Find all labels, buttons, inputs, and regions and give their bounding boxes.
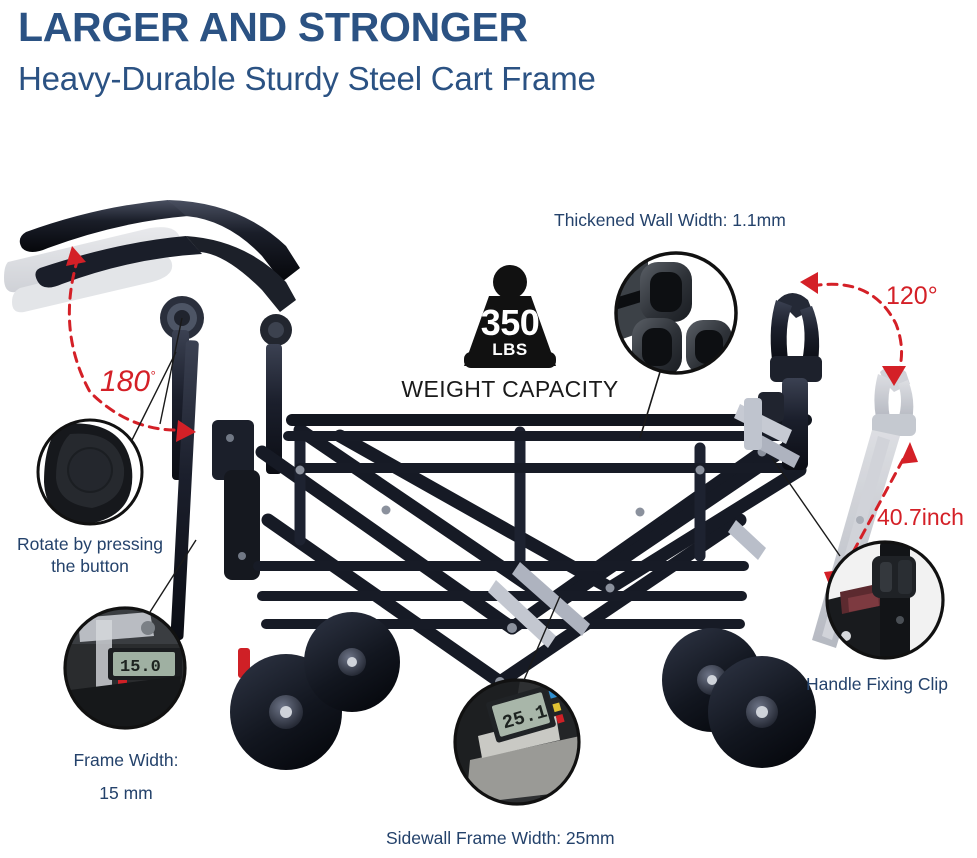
infographic-canvas: LARGER AND STRONGER Heavy-Durable Sturdy… (0, 0, 977, 858)
cart-handle-left (20, 200, 300, 346)
rotation-arc-180 (69, 258, 182, 430)
cart-illustration: 15.0 25.1 (0, 0, 977, 858)
frame-rivets (296, 448, 767, 688)
label-handle-angle-120: 120° (886, 282, 938, 311)
label-handle-fixing-clip: Handle Fixing Clip (806, 673, 948, 695)
tube-cross-section-detail (608, 253, 736, 438)
label-rotate-by-pressing-the-button: Rotate by pressing the button (0, 533, 180, 578)
rotate-caption-line-2: the button (51, 556, 129, 576)
cart-handle-right (734, 293, 822, 470)
arrow-head-40in-bottom (824, 570, 842, 592)
arrow-head-40in-top (900, 442, 918, 464)
arrow-head-120-left (800, 272, 818, 294)
label-rotation-angle-180: 180° (100, 365, 155, 399)
leader-line-180 (160, 318, 182, 424)
frame-width-line-2: 15 mm (99, 783, 152, 803)
wheel-rear-left (662, 628, 762, 732)
weight-capacity-value: 350 (455, 302, 565, 344)
cart-inner-bracing (488, 520, 766, 648)
arrow-head-180-bottom (176, 420, 196, 442)
page-title: LARGER AND STRONGER (18, 4, 528, 51)
rotation-angle-value: 180 (100, 365, 150, 398)
cart-left-posts (170, 330, 282, 678)
handle-ghost-left (4, 227, 180, 312)
wheel-rear-right (708, 656, 816, 768)
weight-capacity-badge: 350 LBS (455, 272, 565, 367)
label-sidewall-frame-width: Sidewall Frame Width: 25mm (386, 827, 615, 849)
label-handle-length-40in: 40.7inch (877, 504, 964, 531)
cart-wheels (230, 612, 816, 770)
wheel-front-right (304, 612, 400, 712)
rotate-caption-line-1: Rotate by pressing (17, 534, 163, 554)
sidewall-frame-width-detail: 25.1 (455, 596, 584, 804)
cart-scissor-frame (258, 420, 806, 682)
weight-capacity-unit: LBS (455, 340, 565, 360)
svg-text:25.1: 25.1 (500, 701, 550, 735)
arrow-head-120-bottom (882, 366, 906, 386)
svg-text:15.0: 15.0 (120, 658, 161, 677)
rotation-angle-degree: ° (150, 368, 155, 383)
frame-width-line-1: Frame Width: (73, 750, 178, 770)
label-frame-width: Frame Width: 15 mm (36, 744, 216, 811)
label-thickened-wall-width: Thickened Wall Width: 1.1mm (554, 209, 786, 231)
weight-capacity-caption: WEIGHT CAPACITY (396, 376, 624, 403)
arrow-head-180-top (66, 246, 86, 266)
wheel-front-left (230, 654, 342, 770)
page-subtitle: Heavy-Durable Sturdy Steel Cart Frame (18, 60, 596, 98)
handle-fixing-clip-detail (772, 458, 943, 660)
